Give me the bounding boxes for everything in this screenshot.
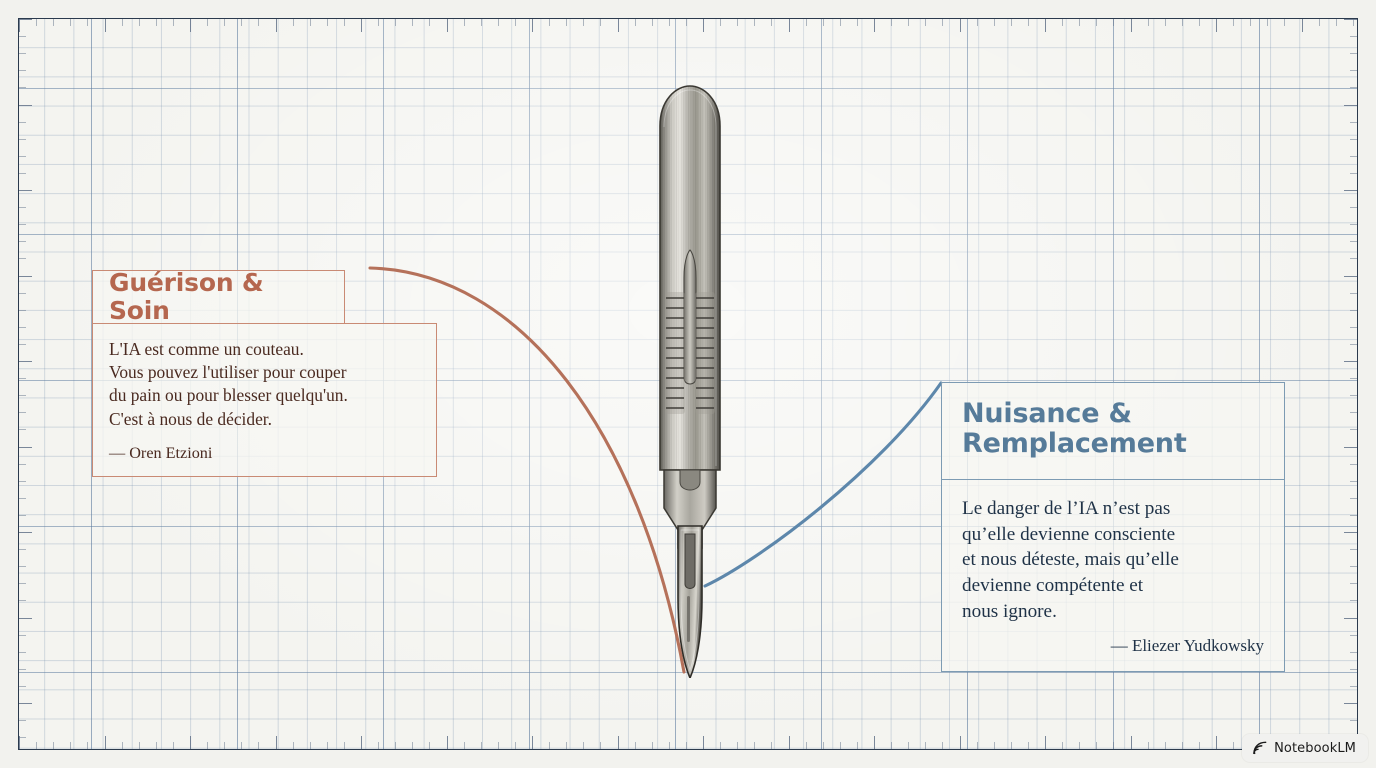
card-right-body: Le danger de l’IA n’est pas qu’elle devi… [941,479,1285,672]
card-left-body: L'IA est comme un couteau. Vous pouvez l… [92,323,437,477]
quote-line: C'est à nous de décider. [109,409,272,429]
quote-line: nous ignore. [962,601,1057,622]
quote-line: Le danger de l’IA n’est pas [962,498,1170,519]
slide-canvas: CHID Guérison & Soin L'IA est comme un c… [0,0,1376,768]
card-right-header: Nuisance & Remplacement [941,382,1285,479]
title-line: Remplacement [962,428,1187,459]
card-left-header: Guérison & Soin [92,270,345,323]
card-right-quote: Le danger de l’IA n’est pas qu’elle devi… [962,496,1264,624]
card-left-quote: L'IA est comme un couteau. Vous pouvez l… [109,338,420,431]
quote-line: L'IA est comme un couteau. [109,339,304,359]
ruler-ticks-left [19,19,41,749]
notebooklm-watermark: NotebookLM [1242,734,1368,762]
ruler-ticks-bottom [19,727,1357,749]
card-nuisance-remplacement[interactable]: Nuisance & Remplacement Le danger de l’I… [941,382,1285,672]
quote-line: Vous pouvez l'utiliser pour couper [109,362,347,382]
card-left-title: Guérison & Soin [109,269,328,325]
card-left-attribution: — Oren Etzioni [109,444,420,463]
title-line: Nuisance & [962,398,1132,429]
card-right-attribution: — Eliezer Yudkowsky [962,636,1264,656]
notebooklm-label: NotebookLM [1274,741,1356,756]
quote-line: et nous déteste, mais qu’elle [962,549,1179,570]
card-guerison-soin[interactable]: Guérison & Soin L'IA est comme un coutea… [92,270,437,477]
ruler-ticks-top [19,19,1357,41]
notebooklm-spiral-icon [1252,740,1268,756]
quote-line: du pain ou pour blesser quelqu'un. [109,385,348,405]
card-right-title: Nuisance & Remplacement [962,399,1187,459]
surgical-scalpel: CHID [640,78,740,678]
quote-line: qu’elle devienne consciente [962,524,1175,545]
ruler-ticks-right [1335,19,1357,749]
quote-line: devienne compétente et [962,575,1143,596]
